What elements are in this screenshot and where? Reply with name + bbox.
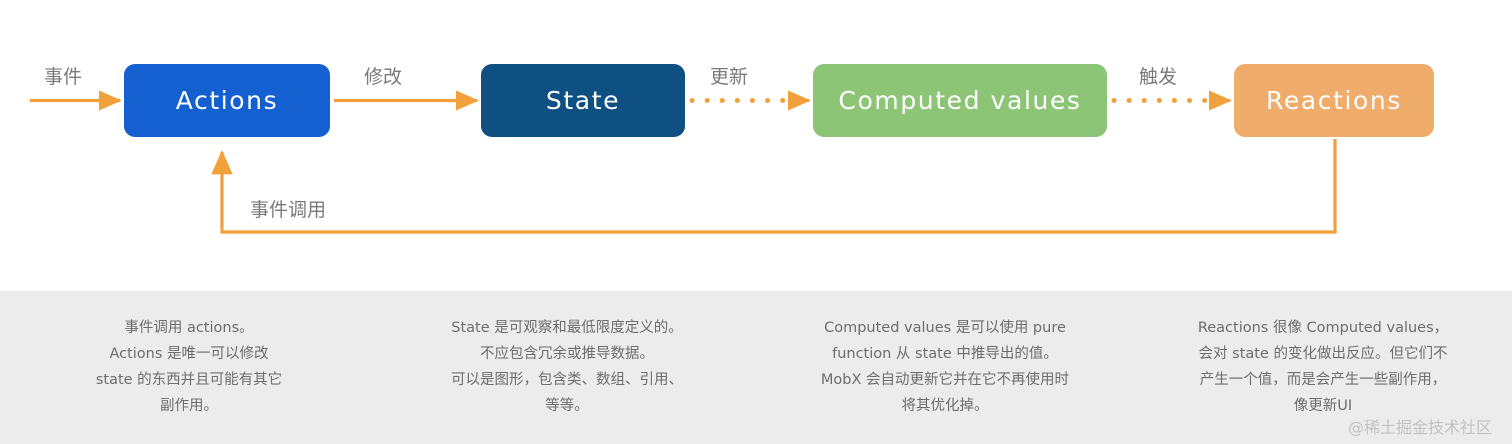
caption-line: 副作用。 [0,393,378,419]
edge-label-modify: 修改 [364,62,402,89]
caption-line: 产生一个值，而是会产生一些副作用， [1134,367,1512,393]
edge-label-trigger: 触发 [1139,62,1177,89]
caption-line: Reactions 很像 Computed values， [1134,315,1512,341]
caption-line: Actions 是唯一可以修改 [0,341,378,367]
caption-line: state 的东西并且可能有其它 [0,367,378,393]
edge-label-event: 事件 [44,62,82,89]
edge-label-update: 更新 [710,62,748,89]
mobx-flow-diagram: Actions State Computed values Reactions … [0,0,1512,444]
flow-connectors [0,0,1512,291]
edge-event-call [222,139,1335,232]
caption-panel: 事件调用 actions。 Actions 是唯一可以修改 state 的东西并… [0,291,1512,444]
caption-line: 等等。 [378,393,756,419]
watermark: @稀土掘金技术社区 [1348,414,1492,438]
flow-node-actions-label: Actions [176,86,279,115]
flow-node-actions[interactable]: Actions [124,64,330,137]
caption-line: State 是可观察和最低限度定义的。 [378,315,756,341]
caption-column-actions: 事件调用 actions。 Actions 是唯一可以修改 state 的东西并… [0,291,378,419]
caption-line: 事件调用 actions。 [0,315,378,341]
caption-line: MobX 会自动更新它并在它不再使用时 [756,367,1134,393]
caption-line: 可以是图形，包含类、数组、引用、 [378,367,756,393]
flow-node-state[interactable]: State [481,64,685,137]
flow-node-reactions-label: Reactions [1266,86,1402,115]
flow-node-state-label: State [546,86,620,115]
caption-column-reactions: Reactions 很像 Computed values， 会对 state 的… [1134,291,1512,419]
flow-node-computed-values-label: Computed values [838,86,1081,115]
flow-node-computed-values[interactable]: Computed values [813,64,1107,137]
caption-line: Computed values 是可以使用 pure [756,315,1134,341]
caption-line: 会对 state 的变化做出反应。但它们不 [1134,341,1512,367]
caption-column-computed-values: Computed values 是可以使用 pure function 从 st… [756,291,1134,419]
flow-node-reactions[interactable]: Reactions [1234,64,1434,137]
caption-column-state: State 是可观察和最低限度定义的。 不应包含冗余或推导数据。 可以是图形，包… [378,291,756,419]
caption-line: 将其优化掉。 [756,393,1134,419]
caption-line: function 从 state 中推导出的值。 [756,341,1134,367]
edge-label-event-call: 事件调用 [250,195,326,222]
caption-line: 不应包含冗余或推导数据。 [378,341,756,367]
